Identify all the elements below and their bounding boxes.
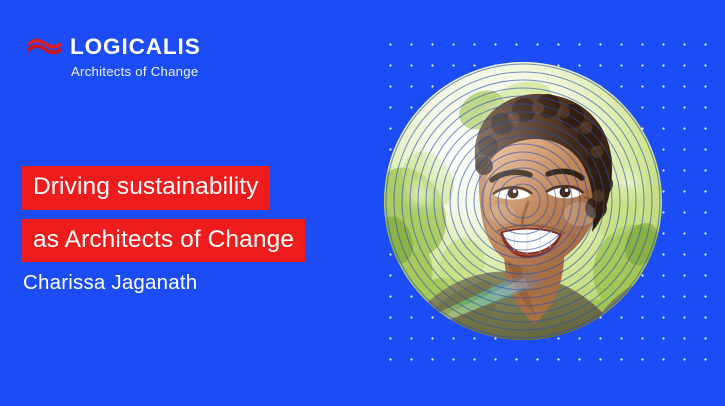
logicalis-ribbon-mark	[27, 36, 63, 57]
slide-headline: Driving sustainability as Architects of …	[22, 166, 305, 262]
speaker-name: Charissa Jaganath	[23, 271, 197, 295]
photo-artwork	[384, 62, 662, 340]
logicalis-logo: LOGICALIS Architects of Change	[27, 34, 257, 86]
speaker-photo	[384, 62, 662, 340]
logo-wordmark: LOGICALIS	[70, 36, 201, 58]
logo-row: LOGICALIS	[27, 34, 257, 59]
presentation-slide: LOGICALIS Architects of Change Driving s…	[0, 0, 725, 406]
logo-tagline: Architects of Change	[71, 64, 257, 79]
headline-line-1: Driving sustainability	[22, 166, 270, 210]
headline-line-2: as Architects of Change	[22, 219, 305, 263]
